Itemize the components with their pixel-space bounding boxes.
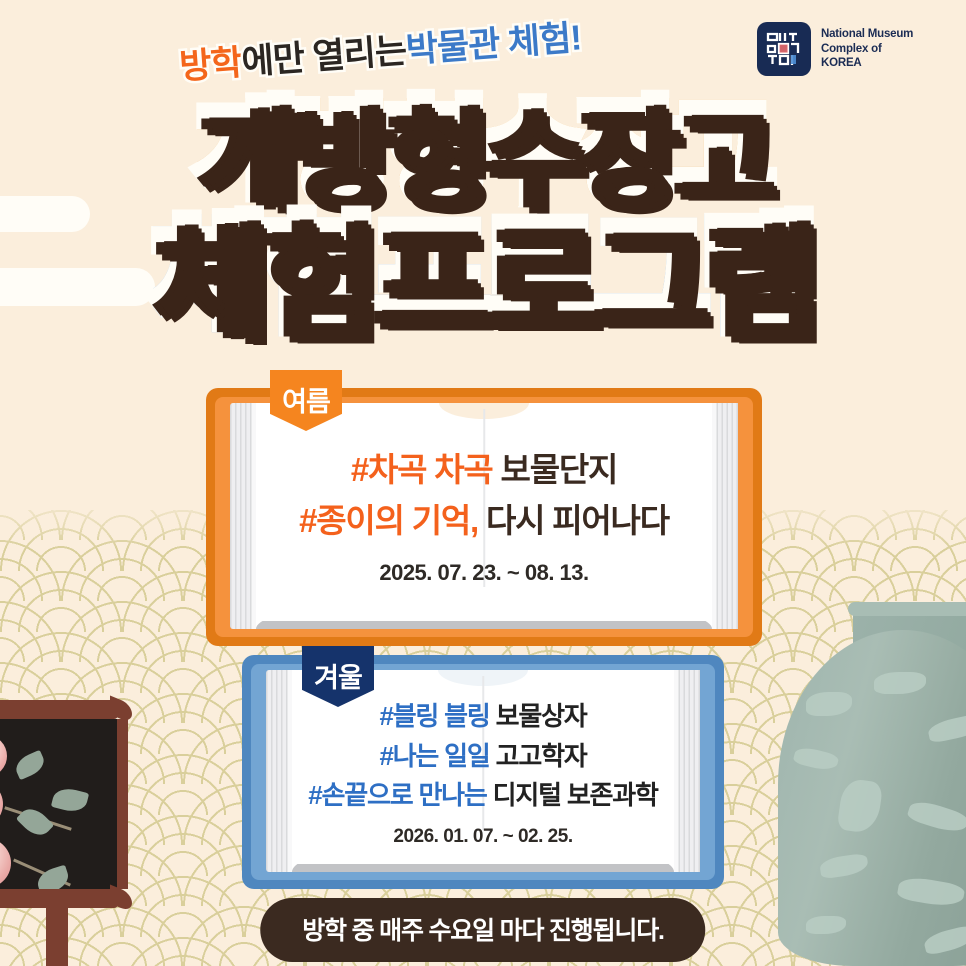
program-winter-line-1-rest: 보물상자 xyxy=(490,701,587,731)
program-winter-date: 2026. 01. 07. ~ 02. 25. xyxy=(242,826,724,848)
screen-panel xyxy=(0,719,128,889)
peony-leaf xyxy=(12,750,48,780)
program-winter-line-2-tag: #나는 일일 xyxy=(379,741,489,771)
peony-leaf xyxy=(34,865,71,889)
vase-glaze-mark xyxy=(927,712,966,744)
tagline-part-1: 방학 xyxy=(177,34,243,89)
tagline-part-3: 박물관 체험! xyxy=(404,9,583,73)
program-card-summer[interactable]: #차곡 차곡 보물단지 #종이의 기억, 다시 피어나다 2025. 07. 2… xyxy=(206,388,762,646)
museum-logo-text: National Museum Complex of KOREA xyxy=(821,27,913,71)
season-badge-winter-label: 겨울 xyxy=(314,663,362,693)
program-winter-line-3-tag: #손끝으로 만나는 xyxy=(308,780,486,810)
program-summer-line-2-rest: 다시 피어나다 xyxy=(478,502,669,539)
vase-glaze-mark xyxy=(806,916,846,934)
vase-glaze-mark xyxy=(792,745,839,773)
program-winter-text: #블링 블링 보물상자 #나는 일일 고고학자 #손끝으로 만나는 디지털 보존… xyxy=(242,697,724,848)
program-summer-line-1-tag: #차곡 차곡 xyxy=(351,451,493,488)
peony-flower xyxy=(0,837,11,889)
page-title-line-1: 개방형수장고 xyxy=(0,98,966,206)
program-winter-line-1: #블링 블링 보물상자 xyxy=(242,697,724,737)
museum-logo[interactable]: National Museum Complex of KOREA xyxy=(757,22,913,76)
screen-leg xyxy=(46,906,68,966)
season-badge-summer-label: 여름 xyxy=(282,387,330,417)
vase-lip xyxy=(848,602,966,616)
vase-glaze-mark xyxy=(906,797,966,836)
peony-leaf xyxy=(51,785,89,815)
program-summer-date: 2025. 07. 23. ~ 08. 13. xyxy=(206,560,762,586)
program-winter-line-3-rest: 디지털 보존과학 xyxy=(487,780,658,810)
tagline: 방학에만 열리는 박물관 체험! xyxy=(0,0,761,103)
program-summer-text: #차곡 차곡 보물단지 #종이의 기억, 다시 피어나다 2025. 07. 2… xyxy=(206,444,762,586)
program-summer-line-1: #차곡 차곡 보물단지 xyxy=(206,444,762,495)
museum-logo-mark-icon xyxy=(757,22,811,76)
program-winter-line-2: #나는 일일 고고학자 xyxy=(242,737,724,777)
page-title-line-2: 체험프로그램 xyxy=(0,214,966,338)
program-winter-line-3: #손끝으로 만나는 디지털 보존과학 xyxy=(242,776,724,816)
vase-glaze-mark xyxy=(806,692,852,716)
peony-leaf xyxy=(16,803,54,841)
screen-top-rail xyxy=(0,700,118,719)
footer-note-pill: 방학 중 매주 수요일 마다 진행됩니다. xyxy=(260,898,705,962)
vase-glaze-mark xyxy=(874,672,926,694)
page-title-line-2-text: 체험프로그램 xyxy=(153,214,813,338)
tagline-part-2: 에만 열리는 xyxy=(240,22,408,85)
program-summer-line-1-rest: 보물단지 xyxy=(493,451,618,488)
vase-glaze-mark xyxy=(896,874,965,909)
vase-body xyxy=(778,630,966,966)
celadon-vase-decoration xyxy=(778,586,966,966)
program-winter-line-2-rest: 고고학자 xyxy=(490,741,587,771)
program-summer-line-2: #종이의 기억, 다시 피어나다 xyxy=(206,495,762,546)
poster-canvas: National Museum Complex of KOREA 방학에만 열리… xyxy=(0,0,966,966)
program-winter-line-1-tag: #블링 블링 xyxy=(379,701,489,731)
program-summer-line-2-tag: #종이의 기억, xyxy=(299,502,478,539)
vase-glaze-mark xyxy=(819,853,869,879)
book-page-curve xyxy=(256,587,712,621)
vase-glaze-mark xyxy=(837,777,884,834)
footer-note-text: 방학 중 매주 수요일 마다 진행됩니다. xyxy=(302,917,663,945)
page-title-line-1-text: 개방형수장고 xyxy=(197,98,769,206)
peony-flower xyxy=(0,779,3,829)
vase-glaze-mark xyxy=(922,924,966,956)
peony-flower xyxy=(0,735,7,777)
